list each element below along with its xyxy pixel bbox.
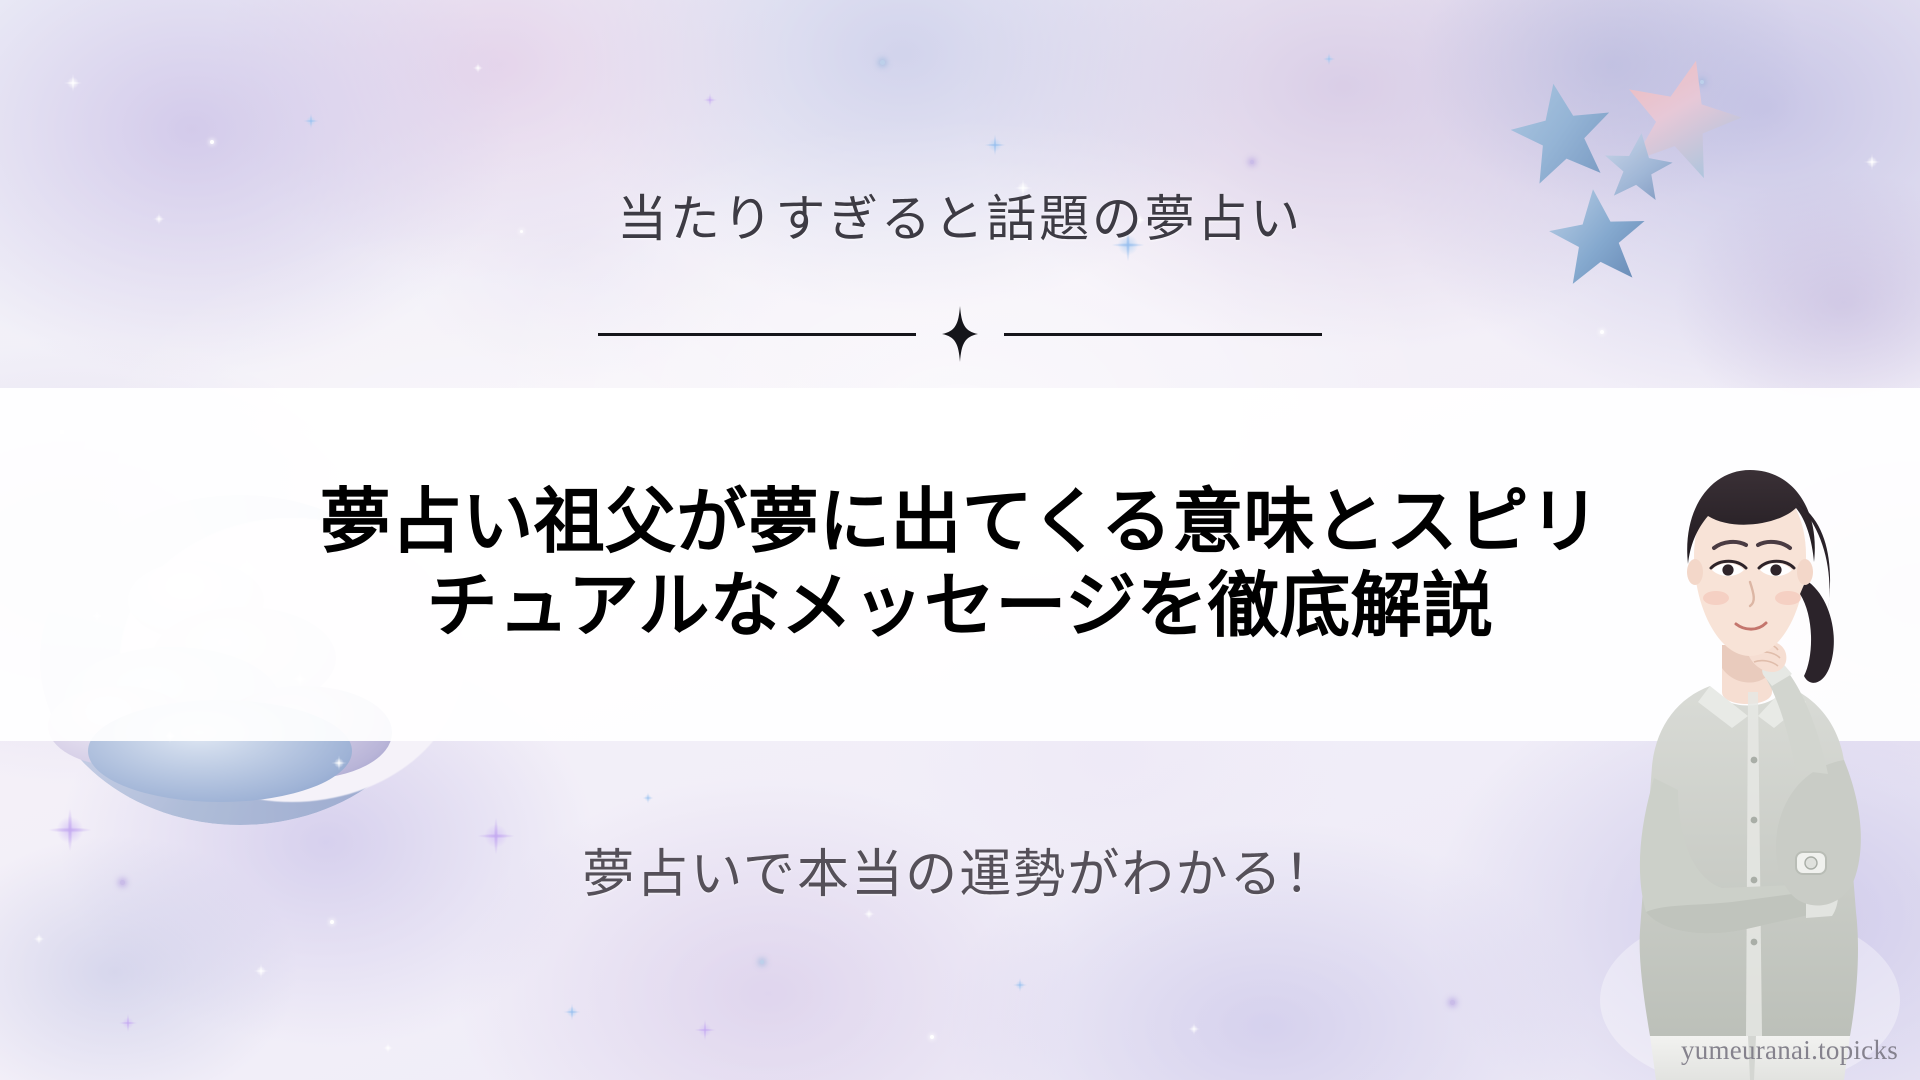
- decorative-divider: [0, 306, 1920, 362]
- woman-illustration-icon: [1582, 460, 1912, 1080]
- divider-rule-left: [598, 333, 916, 336]
- watercolor-stars-icon: [1470, 55, 1800, 305]
- thumbnail-canvas: 当たりすぎると話題の夢占い 夢占い祖父が夢に出てくる意味とスピリチュアルなメッセ…: [0, 0, 1920, 1080]
- divider-rule-right: [1004, 333, 1322, 336]
- four-point-star-icon: [942, 306, 978, 362]
- page-title: 夢占い祖父が夢に出てくる意味とスピリチュアルなメッセージを徹底解説: [295, 481, 1625, 649]
- eyebrow-text: 当たりすぎると話題の夢占い: [0, 188, 1920, 251]
- eyebrow-block: 当たりすぎると話題の夢占い: [0, 188, 1920, 251]
- site-watermark: yumeuranai.topicks: [1681, 1035, 1898, 1066]
